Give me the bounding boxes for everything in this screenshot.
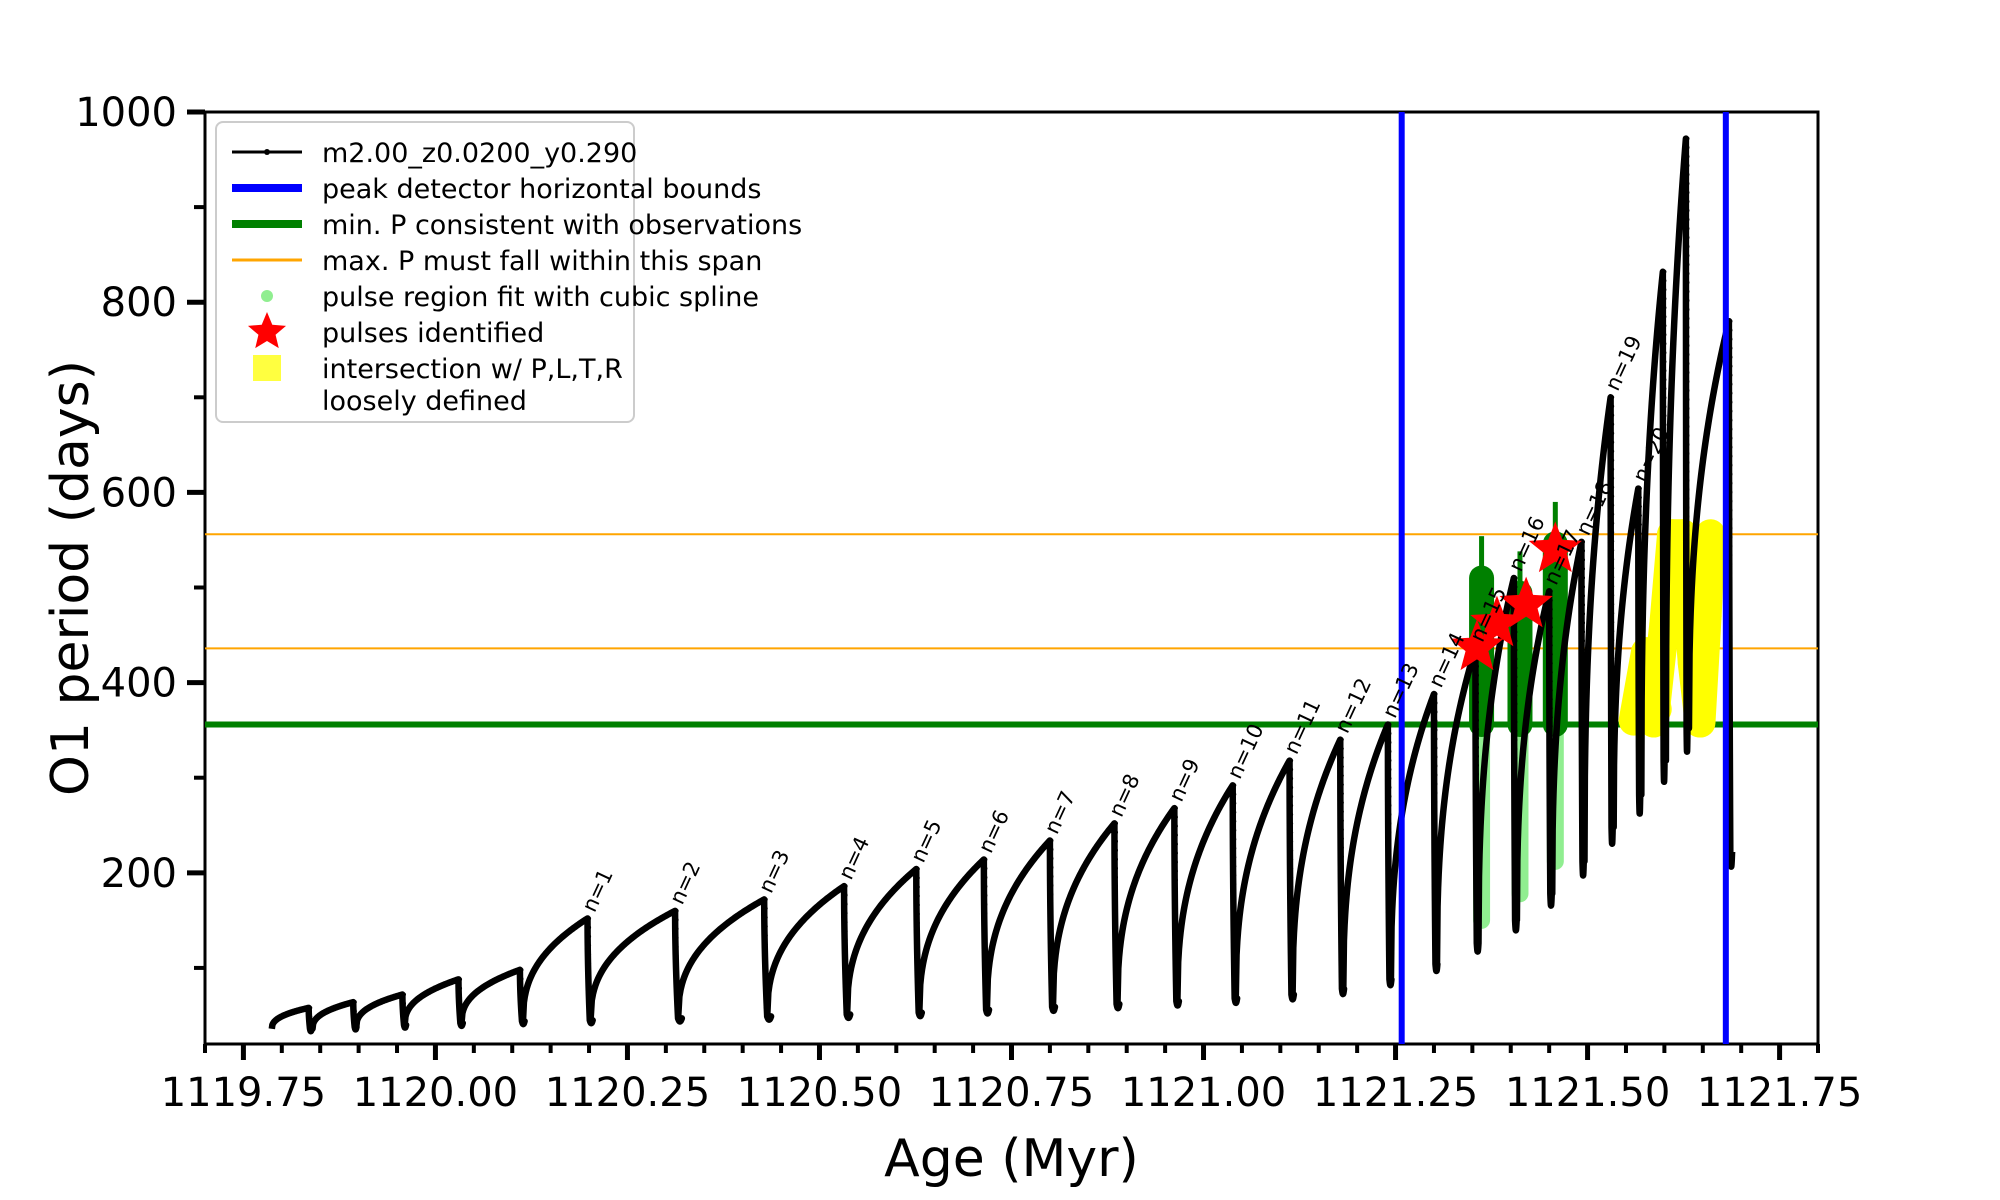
- curve-marker: [1662, 504, 1666, 508]
- curve-marker: [1549, 724, 1553, 728]
- curve-marker: [1340, 891, 1344, 895]
- curve-marker: [1387, 875, 1391, 879]
- curve-marker: [1685, 713, 1689, 717]
- curve-marker: [764, 906, 768, 910]
- curve-marker: [1549, 859, 1553, 863]
- curve-marker: [1662, 567, 1666, 571]
- curve-marker: [1387, 830, 1391, 834]
- curve-marker: [1662, 666, 1666, 670]
- curve-marker: [1513, 891, 1517, 895]
- curve-marker: [1513, 675, 1517, 679]
- curve-marker: [1685, 389, 1689, 393]
- curve-marker: [1685, 290, 1689, 294]
- curve-marker: [1387, 920, 1391, 924]
- curve-marker: [1049, 892, 1053, 896]
- curve-marker: [1340, 981, 1344, 985]
- curve-marker: [1049, 964, 1053, 968]
- legend-label[interactable]: pulse region fit with cubic spline: [322, 282, 759, 313]
- curve-marker: [1728, 616, 1732, 620]
- curve-marker: [1049, 991, 1053, 995]
- curve-marker: [1475, 934, 1479, 938]
- curve-marker: [1638, 613, 1642, 617]
- curve-marker: [1174, 959, 1178, 963]
- curve-marker: [1232, 918, 1236, 922]
- curve-marker: [1549, 841, 1553, 845]
- curve-marker: [1610, 413, 1614, 417]
- curve-marker: [1513, 720, 1517, 724]
- curve-marker: [1289, 911, 1293, 915]
- curve-marker: [1232, 927, 1236, 931]
- curve-marker: [1433, 953, 1437, 957]
- curve-marker: [1638, 784, 1642, 788]
- curve-marker: [1662, 729, 1666, 733]
- curve-marker: [1581, 801, 1585, 805]
- curve-marker: [1475, 817, 1479, 821]
- curve-marker: [1728, 562, 1732, 566]
- curve-marker: [1685, 524, 1689, 528]
- curve-marker: [1114, 920, 1118, 924]
- curve-marker: [1387, 767, 1391, 771]
- curve-marker: [1174, 869, 1178, 873]
- curve-marker: [1662, 648, 1666, 652]
- curve-marker: [1549, 805, 1553, 809]
- curve-marker: [1049, 973, 1053, 977]
- curve-marker: [1638, 640, 1642, 644]
- curve-marker: [1049, 856, 1053, 860]
- curve-marker: [1174, 932, 1178, 936]
- curve-marker: [1685, 533, 1689, 537]
- curve-marker: [1638, 766, 1642, 770]
- curve-marker: [1638, 649, 1642, 653]
- x-tick-label: 1119.75: [161, 1070, 326, 1116]
- curve-marker: [1662, 621, 1666, 625]
- curve-marker: [1340, 909, 1344, 913]
- curve-marker: [1289, 803, 1293, 807]
- curve-marker: [1610, 458, 1614, 462]
- curve-marker: [1685, 380, 1689, 384]
- curve-marker: [916, 984, 920, 988]
- legend-label[interactable]: max. P must fall within this span: [322, 246, 762, 277]
- curve-marker: [1433, 854, 1437, 858]
- curve-marker: [1662, 756, 1666, 760]
- curve-marker: [1232, 828, 1236, 832]
- curve-marker: [1340, 855, 1344, 859]
- legend-label[interactable]: peak detector horizontal bounds: [322, 174, 761, 205]
- curve-marker: [1662, 720, 1666, 724]
- curve-marker: [1610, 755, 1614, 759]
- curve-marker: [1549, 886, 1553, 890]
- curve-marker: [1340, 963, 1344, 967]
- curve-marker: [1662, 594, 1666, 598]
- curve-marker: [1662, 576, 1666, 580]
- curve-marker: [587, 916, 591, 920]
- curve-marker: [1728, 364, 1732, 368]
- curve-marker: [1387, 965, 1391, 969]
- curve-marker: [1728, 715, 1732, 719]
- curve-marker: [1289, 983, 1293, 987]
- curve-marker: [1513, 657, 1517, 661]
- curve-marker: [983, 992, 987, 996]
- curve-marker: [1549, 715, 1553, 719]
- curve-marker: [1549, 652, 1553, 656]
- curve-marker: [1581, 621, 1585, 625]
- curve-marker: [1513, 828, 1517, 832]
- curve-marker: [1638, 487, 1642, 491]
- curve-marker: [843, 947, 847, 951]
- curve-marker: [1433, 773, 1437, 777]
- curve-marker: [1610, 539, 1614, 543]
- curve-marker: [1114, 902, 1118, 906]
- x-tick-label: 1120.00: [353, 1070, 518, 1116]
- curve-marker: [1728, 328, 1732, 332]
- curve-marker: [983, 911, 987, 915]
- curve-marker: [1610, 647, 1614, 651]
- curve-marker: [674, 927, 678, 931]
- curve-marker: [983, 938, 987, 942]
- curve-marker: [1475, 673, 1479, 677]
- curve-marker: [1174, 860, 1178, 864]
- curve-marker: [1340, 882, 1344, 886]
- curve-marker: [1610, 737, 1614, 741]
- curve-marker: [1581, 828, 1585, 832]
- curve-marker: [1549, 697, 1553, 701]
- curve-marker: [983, 965, 987, 969]
- curve-marker: [1728, 787, 1732, 791]
- curve-marker: [1610, 611, 1614, 615]
- curve-marker: [764, 933, 768, 937]
- curve-marker: [1114, 839, 1118, 843]
- curve-marker: [1581, 567, 1585, 571]
- curve-marker: [1340, 765, 1344, 769]
- x-tick-label: 1120.75: [929, 1070, 1094, 1116]
- curve-marker: [458, 1013, 462, 1017]
- curve-marker: [1638, 532, 1642, 536]
- figure-canvas: 2004006008001000 1119.751120.001120.2511…: [0, 0, 2000, 1200]
- curve-marker: [1685, 542, 1689, 546]
- curve-marker: [1728, 832, 1732, 836]
- curve-marker: [1662, 531, 1666, 535]
- curve-marker: [1513, 774, 1517, 778]
- curve-marker: [1174, 878, 1178, 882]
- curve-marker: [1475, 691, 1479, 695]
- curve-marker: [1581, 603, 1585, 607]
- curve-marker: [1114, 857, 1118, 861]
- curve-marker: [1581, 693, 1585, 697]
- curve-marker: [1387, 749, 1391, 753]
- curve-marker: [1232, 864, 1236, 868]
- curve-marker: [1433, 863, 1437, 867]
- curve-marker: [1549, 814, 1553, 818]
- curve-marker: [1433, 818, 1437, 822]
- curve-marker: [1114, 992, 1118, 996]
- legend-label[interactable]: m2.00_z0.0200_y0.290: [322, 138, 637, 169]
- curve-marker: [1685, 326, 1689, 330]
- curve-marker: [1685, 164, 1689, 168]
- curve-marker: [1581, 576, 1585, 580]
- curve-marker: [1475, 844, 1479, 848]
- curve-marker: [1513, 711, 1517, 715]
- curve-marker: [1685, 443, 1689, 447]
- curve-marker: [1685, 452, 1689, 456]
- curve-marker: [1433, 944, 1437, 948]
- curve-marker: [1232, 855, 1236, 859]
- curve-marker: [1289, 848, 1293, 852]
- curve-marker: [1387, 785, 1391, 789]
- curve-marker: [353, 1009, 357, 1013]
- curve-marker: [1114, 848, 1118, 852]
- curve-marker: [983, 866, 987, 870]
- curve-marker: [983, 983, 987, 987]
- curve-marker: [1049, 937, 1053, 941]
- curve-marker: [1475, 880, 1479, 884]
- curve-marker: [1513, 756, 1517, 760]
- curve-marker: [1728, 427, 1732, 431]
- curve-marker: [1581, 792, 1585, 796]
- curve-marker: [1728, 697, 1732, 701]
- curve-marker: [1289, 893, 1293, 897]
- curve-marker: [1662, 378, 1666, 382]
- curve-marker: [843, 956, 847, 960]
- legend-label[interactable]: min. P consistent with observations: [322, 210, 802, 241]
- curve-marker: [1638, 721, 1642, 725]
- curve-marker: [764, 960, 768, 964]
- curve-marker: [916, 993, 920, 997]
- curve-marker: [1433, 881, 1437, 885]
- curve-marker: [843, 920, 847, 924]
- intersection-blob: [1700, 616, 1706, 723]
- curve-marker: [764, 915, 768, 919]
- curve-marker: [1387, 776, 1391, 780]
- curve-marker: [1340, 927, 1344, 931]
- curve-marker: [1728, 742, 1732, 746]
- curve-marker: [1049, 1000, 1053, 1004]
- curve-marker: [916, 867, 920, 871]
- legend-marker-small-dot: [261, 290, 273, 302]
- curve-marker: [458, 986, 462, 990]
- curve-marker: [1662, 513, 1666, 517]
- curve-marker: [1728, 445, 1732, 449]
- curve-marker: [983, 956, 987, 960]
- curve-marker: [1387, 803, 1391, 807]
- curve-marker: [1581, 666, 1585, 670]
- curve-marker: [1685, 434, 1689, 438]
- curve-marker: [1638, 793, 1642, 797]
- curve-marker: [402, 992, 406, 996]
- curve-marker: [1174, 842, 1178, 846]
- chart-svg: 2004006008001000 1119.751120.001120.2511…: [0, 0, 2000, 1200]
- curve-marker: [1174, 914, 1178, 918]
- curve-marker: [1662, 684, 1666, 688]
- curve-marker: [1610, 809, 1614, 813]
- curve-marker: [1610, 665, 1614, 669]
- curve-marker: [1549, 733, 1553, 737]
- legend-label[interactable]: intersection w/ P,L,T,R: [322, 354, 623, 385]
- curve-marker: [1340, 747, 1344, 751]
- curve-marker: [1513, 639, 1517, 643]
- x-tick-label: 1121.75: [1697, 1070, 1862, 1116]
- curve-marker: [1114, 965, 1118, 969]
- curve-marker: [1610, 584, 1614, 588]
- curve-marker: [1581, 756, 1585, 760]
- x-tick-label: 1121.50: [1505, 1070, 1670, 1116]
- curve-marker: [1513, 693, 1517, 697]
- curve-marker: [1513, 648, 1517, 652]
- curve-marker: [1662, 405, 1666, 409]
- curve-marker: [1581, 675, 1585, 679]
- curve-marker: [1433, 737, 1437, 741]
- curve-marker: [1475, 925, 1479, 929]
- curve-marker: [1387, 839, 1391, 843]
- curve-marker: [1685, 191, 1689, 195]
- curve-marker: [1475, 682, 1479, 686]
- curve-marker: [1513, 783, 1517, 787]
- curve-marker: [764, 942, 768, 946]
- curve-marker: [1340, 873, 1344, 877]
- curve-marker: [1049, 910, 1053, 914]
- curve-marker: [1581, 783, 1585, 787]
- curve-marker: [1685, 497, 1689, 501]
- curve-marker: [402, 1010, 406, 1014]
- curve-marker: [1728, 625, 1732, 629]
- curve-marker: [1685, 317, 1689, 321]
- curve-marker: [1475, 889, 1479, 893]
- curve-marker: [764, 987, 768, 991]
- curve-marker: [1728, 634, 1732, 638]
- curve-marker: [1662, 270, 1666, 274]
- curve-marker: [1289, 857, 1293, 861]
- x-tick-label: 1121.25: [1313, 1070, 1478, 1116]
- curve-marker: [1662, 369, 1666, 373]
- curve-marker: [983, 875, 987, 879]
- curve-marker: [1513, 576, 1517, 580]
- curve-marker: [1549, 679, 1553, 683]
- curve-marker: [1728, 436, 1732, 440]
- curve-marker: [983, 884, 987, 888]
- curve-marker: [1685, 353, 1689, 357]
- curve-marker: [1433, 809, 1437, 813]
- curve-marker: [1114, 830, 1118, 834]
- curve-marker: [1232, 909, 1236, 913]
- curve-marker: [1610, 575, 1614, 579]
- curve-marker: [1638, 667, 1642, 671]
- curve-marker: [764, 1005, 768, 1009]
- curve-marker: [1549, 760, 1553, 764]
- curve-marker: [916, 930, 920, 934]
- curve-marker: [674, 945, 678, 949]
- curve-marker: [519, 995, 523, 999]
- curve-marker: [1685, 137, 1689, 141]
- curve-marker: [1662, 324, 1666, 328]
- curve-marker: [1662, 693, 1666, 697]
- curve-marker: [1685, 263, 1689, 267]
- curve-marker: [1638, 730, 1642, 734]
- curve-marker: [1114, 974, 1118, 978]
- curve-marker: [1662, 540, 1666, 544]
- curve-marker: [1513, 747, 1517, 751]
- curve-marker: [1728, 454, 1732, 458]
- curve-marker: [1340, 918, 1344, 922]
- curve-marker: [1114, 866, 1118, 870]
- curve-marker: [1728, 409, 1732, 413]
- curve-marker: [458, 995, 462, 999]
- curve-marker: [1685, 560, 1689, 564]
- curve-marker: [1610, 530, 1614, 534]
- curve-marker: [1728, 580, 1732, 584]
- curve-marker: [1549, 688, 1553, 692]
- curve-marker: [1728, 805, 1732, 809]
- curve-marker: [1387, 758, 1391, 762]
- curve-marker: [1549, 661, 1553, 665]
- curve-marker: [1685, 200, 1689, 204]
- x-tick-label: 1120.25: [545, 1070, 710, 1116]
- curve-marker: [519, 1004, 523, 1008]
- curve-marker: [1549, 787, 1553, 791]
- curve-marker: [1549, 616, 1553, 620]
- curve-marker: [1174, 833, 1178, 837]
- curve-marker: [1513, 729, 1517, 733]
- curve-marker: [1581, 837, 1585, 841]
- curve-marker: [1685, 299, 1689, 303]
- curve-marker: [1610, 395, 1614, 399]
- curve-marker: [916, 912, 920, 916]
- curve-marker: [1433, 917, 1437, 921]
- curve-marker: [1433, 872, 1437, 876]
- curve-marker: [1433, 755, 1437, 759]
- curve-marker: [1685, 632, 1689, 636]
- curve-marker: [1581, 684, 1585, 688]
- curve-marker: [1289, 956, 1293, 960]
- x-tick-label: 1121.00: [1121, 1070, 1286, 1116]
- curve-marker: [1728, 841, 1732, 845]
- curve-marker: [1475, 916, 1479, 920]
- curve-marker: [1340, 837, 1344, 841]
- curve-marker: [1685, 479, 1689, 483]
- curve-marker: [983, 902, 987, 906]
- curve-marker: [674, 1008, 678, 1012]
- curve-marker: [1387, 902, 1391, 906]
- curve-marker: [1685, 209, 1689, 213]
- curve-marker: [1685, 416, 1689, 420]
- curve-marker: [1662, 387, 1666, 391]
- curve-marker: [674, 972, 678, 976]
- y-tick-label: 600: [101, 470, 177, 516]
- curve-marker: [1685, 677, 1689, 681]
- curve-marker: [1685, 623, 1689, 627]
- curve-marker: [1340, 792, 1344, 796]
- curve-marker: [1610, 692, 1614, 696]
- legend-label[interactable]: pulses identified: [322, 318, 544, 349]
- curve-marker: [1728, 760, 1732, 764]
- curve-marker: [1174, 851, 1178, 855]
- curve-marker: [916, 885, 920, 889]
- curve-marker: [1475, 700, 1479, 704]
- curve-marker: [1387, 938, 1391, 942]
- curve-marker: [1049, 901, 1053, 905]
- curve-marker: [308, 1015, 312, 1019]
- curve-marker: [1289, 758, 1293, 762]
- curve-marker: [843, 965, 847, 969]
- curve-marker: [1728, 688, 1732, 692]
- curve-marker: [1685, 407, 1689, 411]
- curve-marker: [1340, 738, 1344, 742]
- curve-marker: [1685, 344, 1689, 348]
- curve-marker: [1049, 865, 1053, 869]
- curve-marker: [1049, 946, 1053, 950]
- curve-marker: [1581, 639, 1585, 643]
- curve-marker: [674, 990, 678, 994]
- curve-marker: [1610, 404, 1614, 408]
- curve-marker: [1610, 800, 1614, 804]
